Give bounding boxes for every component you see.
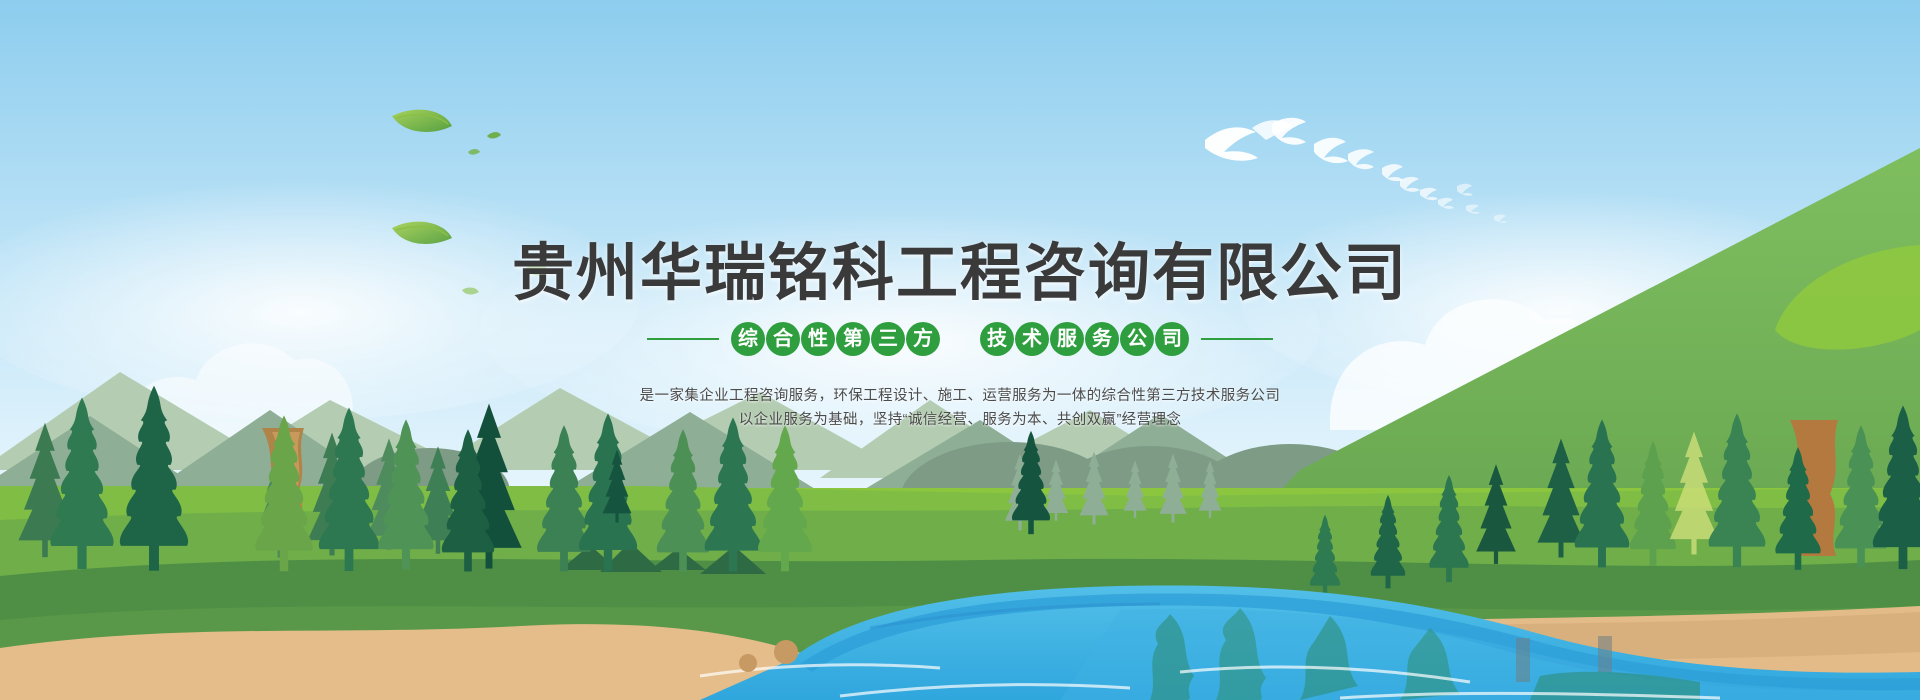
landscape-illustration [0,0,1920,700]
hero-banner: 贵州华瑞铭科工程咨询有限公司 综 合 性 第 三 方 技 术 服 务 公 司 [0,0,1920,700]
